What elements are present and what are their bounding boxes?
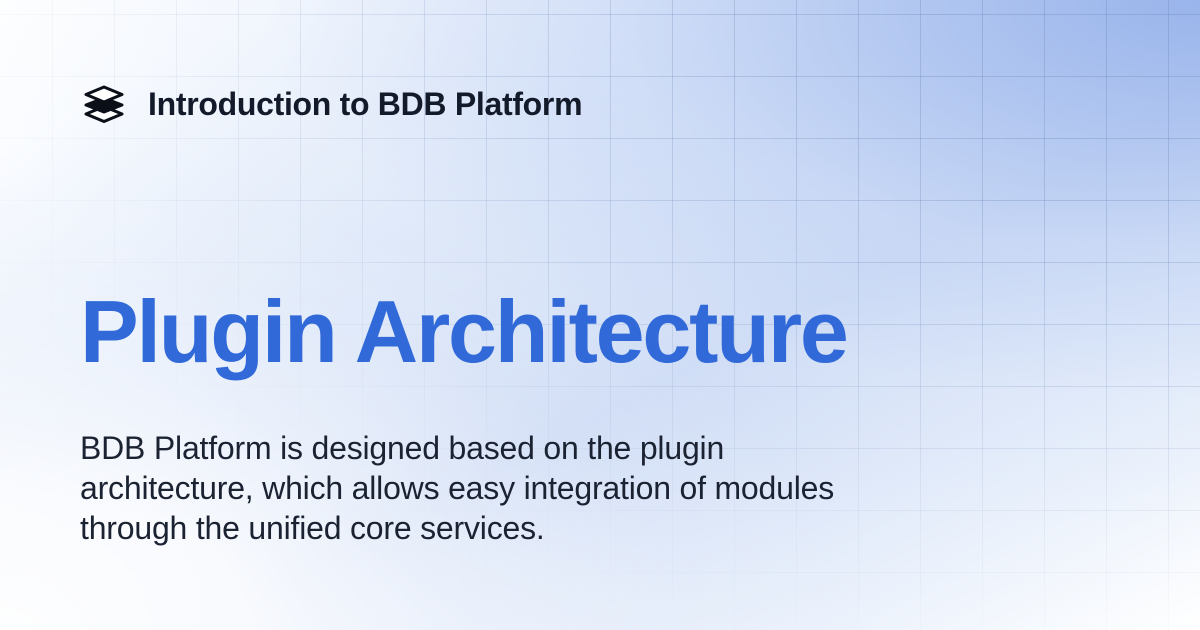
layers-stack-icon: [80, 80, 128, 128]
brand-row: Introduction to BDB Platform: [80, 80, 582, 128]
page-title: Plugin Architecture: [80, 288, 847, 376]
page-subtitle: BDB Platform is designed based on the pl…: [80, 428, 880, 548]
title-card: Introduction to BDB Platform Plugin Arch…: [0, 0, 1200, 630]
brand-name: Introduction to BDB Platform: [148, 88, 582, 120]
card-content: Introduction to BDB Platform Plugin Arch…: [0, 0, 1200, 630]
